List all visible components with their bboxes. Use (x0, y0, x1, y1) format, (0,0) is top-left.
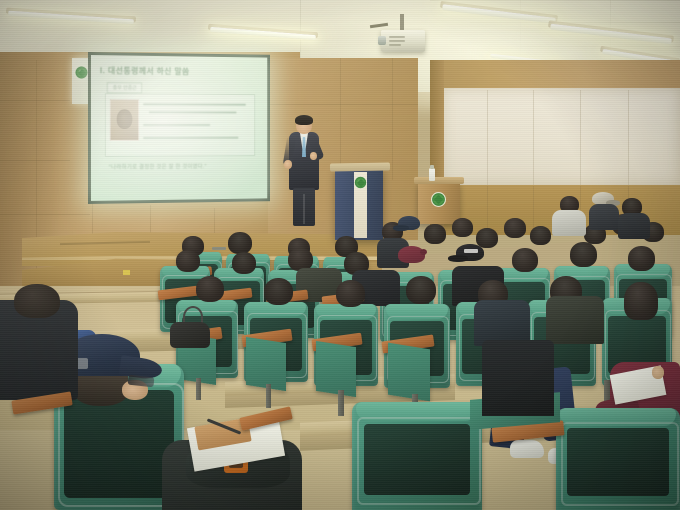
wall-panel-seam (268, 104, 418, 105)
water-bottle (429, 168, 435, 181)
institution-emblem-icon (354, 176, 367, 189)
presenter (287, 116, 323, 226)
wall-panel-seam (340, 58, 341, 168)
seat-leg (266, 384, 271, 408)
seat-leg (338, 390, 344, 416)
wall-panel-seam (392, 58, 393, 180)
presenter-left-hand (284, 160, 292, 169)
auditorium-seat-foreground (352, 402, 482, 510)
white-sneaker (510, 440, 544, 458)
presenter-leg-separation (303, 194, 305, 224)
attendee-head-foreground (14, 284, 60, 318)
lecture-hall-photo: I. 대선통령께서 하신 말씀 충무 안중근 "나라하기로 결정한 것은 잘 한… (0, 0, 680, 510)
institution-emblem-icon (431, 192, 446, 207)
attendee-jacket (546, 296, 604, 344)
stage-yellow-mark (123, 270, 130, 275)
seat-tablet-arm-panel (388, 343, 430, 402)
attendee-torso-foreground (482, 340, 554, 416)
projection-screen: I. 대선통령께서 하신 말씀 충무 안중근 "나라하기로 결정한 것은 잘 한… (91, 55, 267, 201)
screen-light-wash (91, 55, 267, 201)
wall-panel-seam (0, 214, 90, 215)
wall-panel-seam (0, 100, 70, 101)
wall-panel-seam (0, 160, 70, 161)
projector-lens (378, 36, 386, 45)
wall-panel-seam (487, 90, 488, 185)
hand (652, 366, 664, 379)
wall-panel-seam (533, 90, 534, 185)
wall-panel-seam (487, 186, 488, 234)
seat-leg (196, 378, 201, 400)
projection-screen-frame: I. 대선통령께서 하신 말씀 충무 안중근 "나라하기로 결정한 것은 잘 한… (88, 52, 270, 204)
presenter-right-hand (310, 152, 317, 160)
wall-right-light-panel (443, 88, 680, 185)
green-diamond-logo-icon (75, 66, 88, 79)
backpack (170, 322, 210, 348)
hair (74, 376, 128, 406)
wall-panel-seam (628, 90, 629, 185)
seat-tablet-arm-panel (316, 341, 356, 397)
auditorium-seat-foreground (556, 408, 680, 510)
water-bottle-cap (430, 165, 434, 169)
presenter-hair (295, 115, 313, 125)
wall-panel-seam (580, 90, 581, 185)
podium-top-surface (330, 162, 390, 171)
stage-floor-mark (212, 247, 226, 250)
side-lectern-top (414, 177, 464, 184)
projector (381, 30, 425, 52)
